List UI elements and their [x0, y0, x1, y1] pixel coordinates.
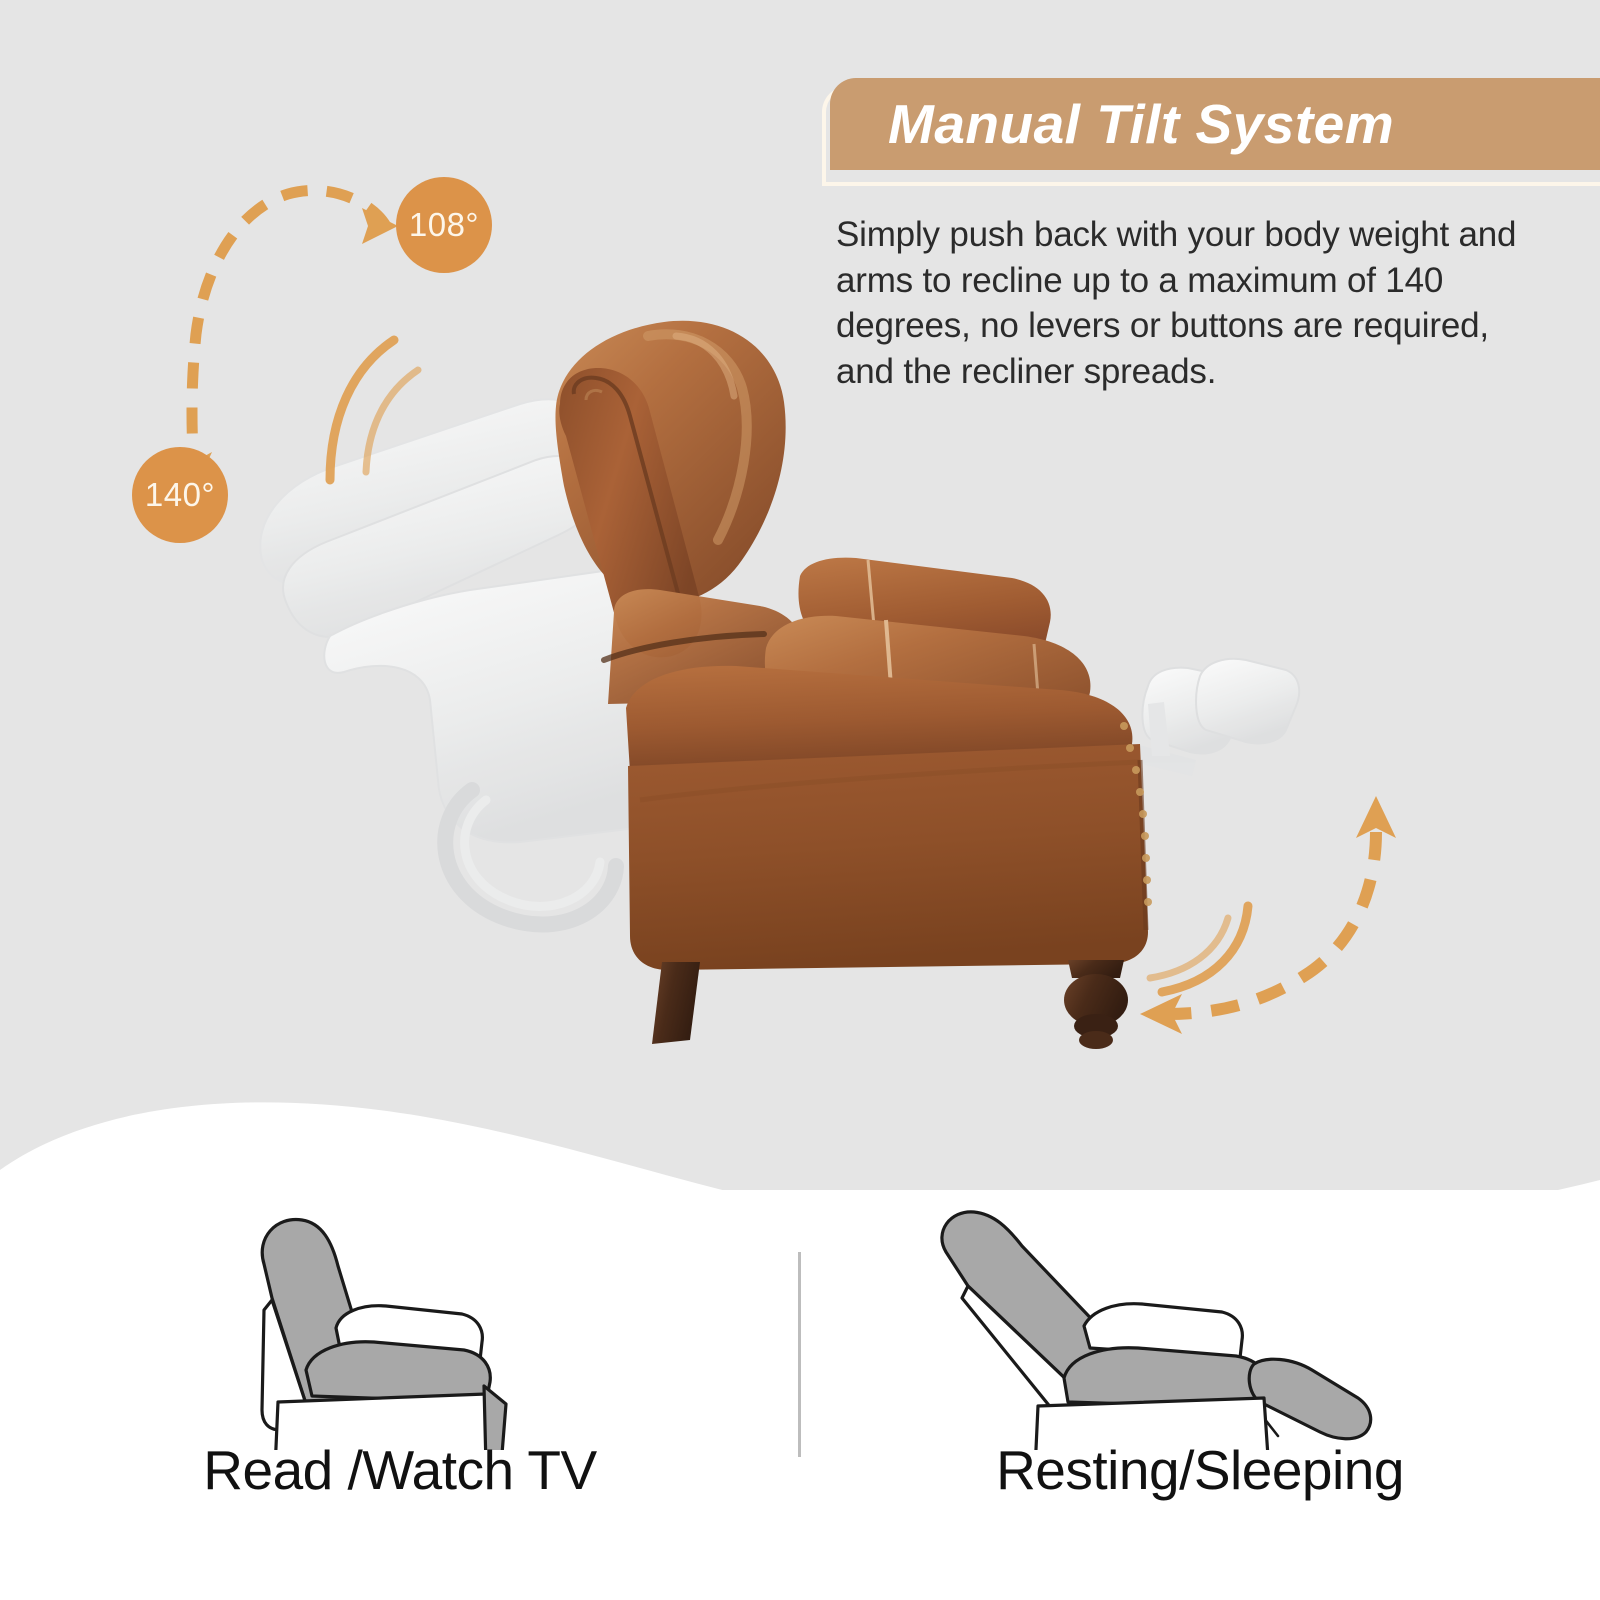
title-banner: Manual Tilt System: [822, 78, 1600, 186]
bottom-section: Read /Watch TV: [0, 1190, 1600, 1600]
brown-leather-chair: [555, 321, 1152, 1049]
banner-fill: Manual Tilt System: [830, 78, 1600, 170]
top-section: 108° 140° Manual Tilt System Simply push…: [0, 0, 1600, 1200]
recliner-reclined-icon: [850, 1190, 1550, 1450]
angle-badge-108: 108°: [396, 177, 492, 273]
description-text: Simply push back with your body weight a…: [836, 212, 1536, 394]
infographic-page: 108° 140° Manual Tilt System Simply push…: [0, 0, 1600, 1600]
mode-label-resting-sleeping: Resting/Sleeping: [850, 1438, 1550, 1502]
mode-divider: [798, 1252, 801, 1457]
mode-label-read-watch-tv: Read /Watch TV: [50, 1438, 750, 1502]
page-title: Manual Tilt System: [888, 97, 1394, 152]
mode-resting-sleeping[interactable]: Resting/Sleeping: [850, 1190, 1550, 1590]
mode-read-watch-tv[interactable]: Read /Watch TV: [50, 1190, 750, 1590]
recliner-upright-icon: [50, 1190, 750, 1450]
wave-divider: [0, 1020, 1600, 1200]
angle-badge-140: 140°: [132, 447, 228, 543]
